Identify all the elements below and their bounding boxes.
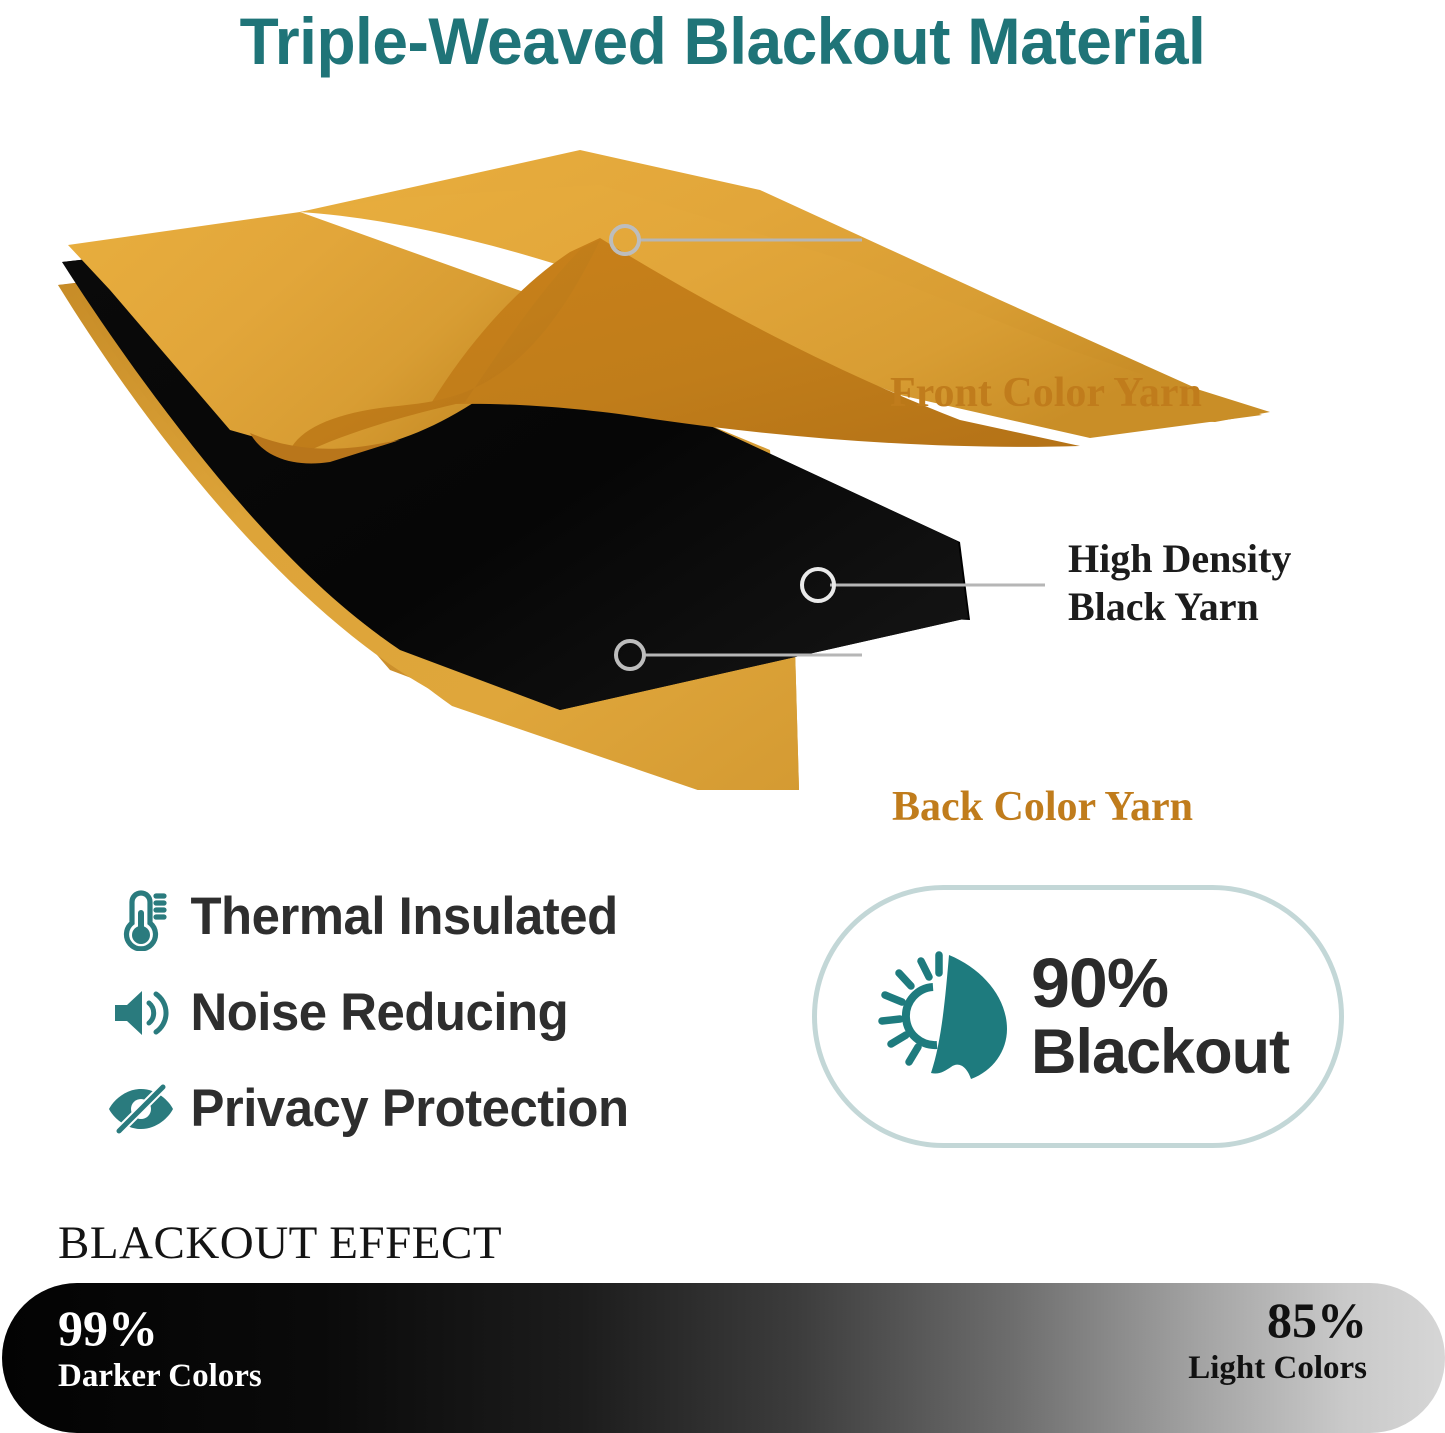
- blackout-effect-darker-group: 99% Darker Colors: [58, 1300, 262, 1396]
- light-colors-percent: 85%: [1188, 1292, 1367, 1348]
- label-black-yarn-line2: Black Yarn: [1068, 583, 1291, 631]
- feature-label-noise-reducing: Noise Reducing: [177, 982, 568, 1044]
- darker-colors-percent: 99%: [58, 1300, 262, 1356]
- sun-behind-curtain-icon: [867, 943, 1017, 1091]
- feature-label-privacy-protection: Privacy Protection: [177, 1078, 629, 1140]
- feature-label-thermal-insulated: Thermal Insulated: [177, 886, 618, 948]
- thermometer-icon: [105, 883, 177, 951]
- blackout-percent-value: 90%: [1031, 947, 1289, 1020]
- blackout-effect-light-group: 85% Light Colors: [1188, 1292, 1367, 1388]
- feature-list: Thermal Insulated Noise Reducing Privacy…: [105, 875, 745, 1163]
- blackout-word: Blackout: [1031, 1020, 1289, 1086]
- blackout-percentage-badge: 90% Blackout: [812, 885, 1344, 1148]
- eye-slash-icon: [105, 1083, 177, 1135]
- blackout-effect-heading: BLACKOUT EFFECT: [58, 1216, 502, 1271]
- fabric-layers-diagram: Front Color Yarn High Density Black Yarn…: [0, 150, 1445, 790]
- blackout-badge-text: 90% Blackout: [1031, 947, 1289, 1085]
- label-front-color-yarn: Front Color Yarn: [890, 368, 1202, 418]
- speaker-sound-icon: [105, 984, 177, 1042]
- light-colors-label: Light Colors: [1188, 1348, 1367, 1388]
- feature-item-thermal-insulated: Thermal Insulated: [105, 875, 745, 959]
- feature-item-privacy-protection: Privacy Protection: [105, 1067, 745, 1151]
- darker-colors-label: Darker Colors: [58, 1356, 262, 1396]
- page-title: Triple-Weaved Blackout Material: [22, 2, 1424, 80]
- label-black-yarn-line1: High Density: [1068, 535, 1291, 583]
- feature-item-noise-reducing: Noise Reducing: [105, 971, 745, 1055]
- label-back-color-yarn: Back Color Yarn: [892, 782, 1193, 832]
- label-high-density-black-yarn: High Density Black Yarn: [1068, 535, 1291, 631]
